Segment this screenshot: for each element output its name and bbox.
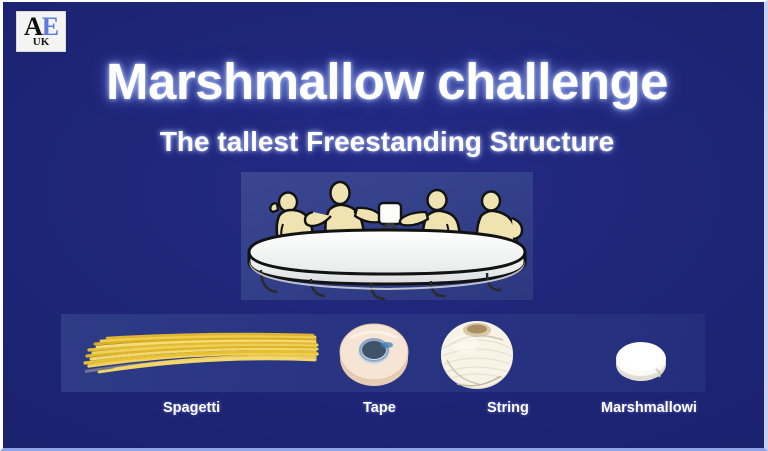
slide-title: Marshmallow challenge [3,52,768,111]
material-label-tape: Tape [363,400,396,416]
team-illustration-panel [241,172,533,300]
material-label-marshmallow: Marshmallowi [601,400,697,416]
team-around-table-illustration [241,172,533,300]
string-ball-icon [427,314,527,392]
logo-subtext: UK [33,37,50,48]
material-label-spagetti: Spagetti [163,400,220,416]
slide-subtitle: The tallest Freestanding Structure [3,126,768,158]
spaghetti-bundle-icon [71,314,331,392]
materials-panel [61,314,705,392]
ae-uk-logo: AE UK [16,11,66,52]
material-tape [329,314,419,392]
marshmallow-on-tower [379,203,401,224]
marshmallow-icon [601,314,681,392]
material-spagetti [71,314,331,392]
material-marshmallow [601,314,681,392]
material-string [427,314,527,392]
material-label-string: String [487,400,529,416]
presentation-slide: AE UK Marshmallow challenge The tallest … [0,0,768,451]
round-table [249,230,525,299]
tape-roll-icon [329,314,419,392]
